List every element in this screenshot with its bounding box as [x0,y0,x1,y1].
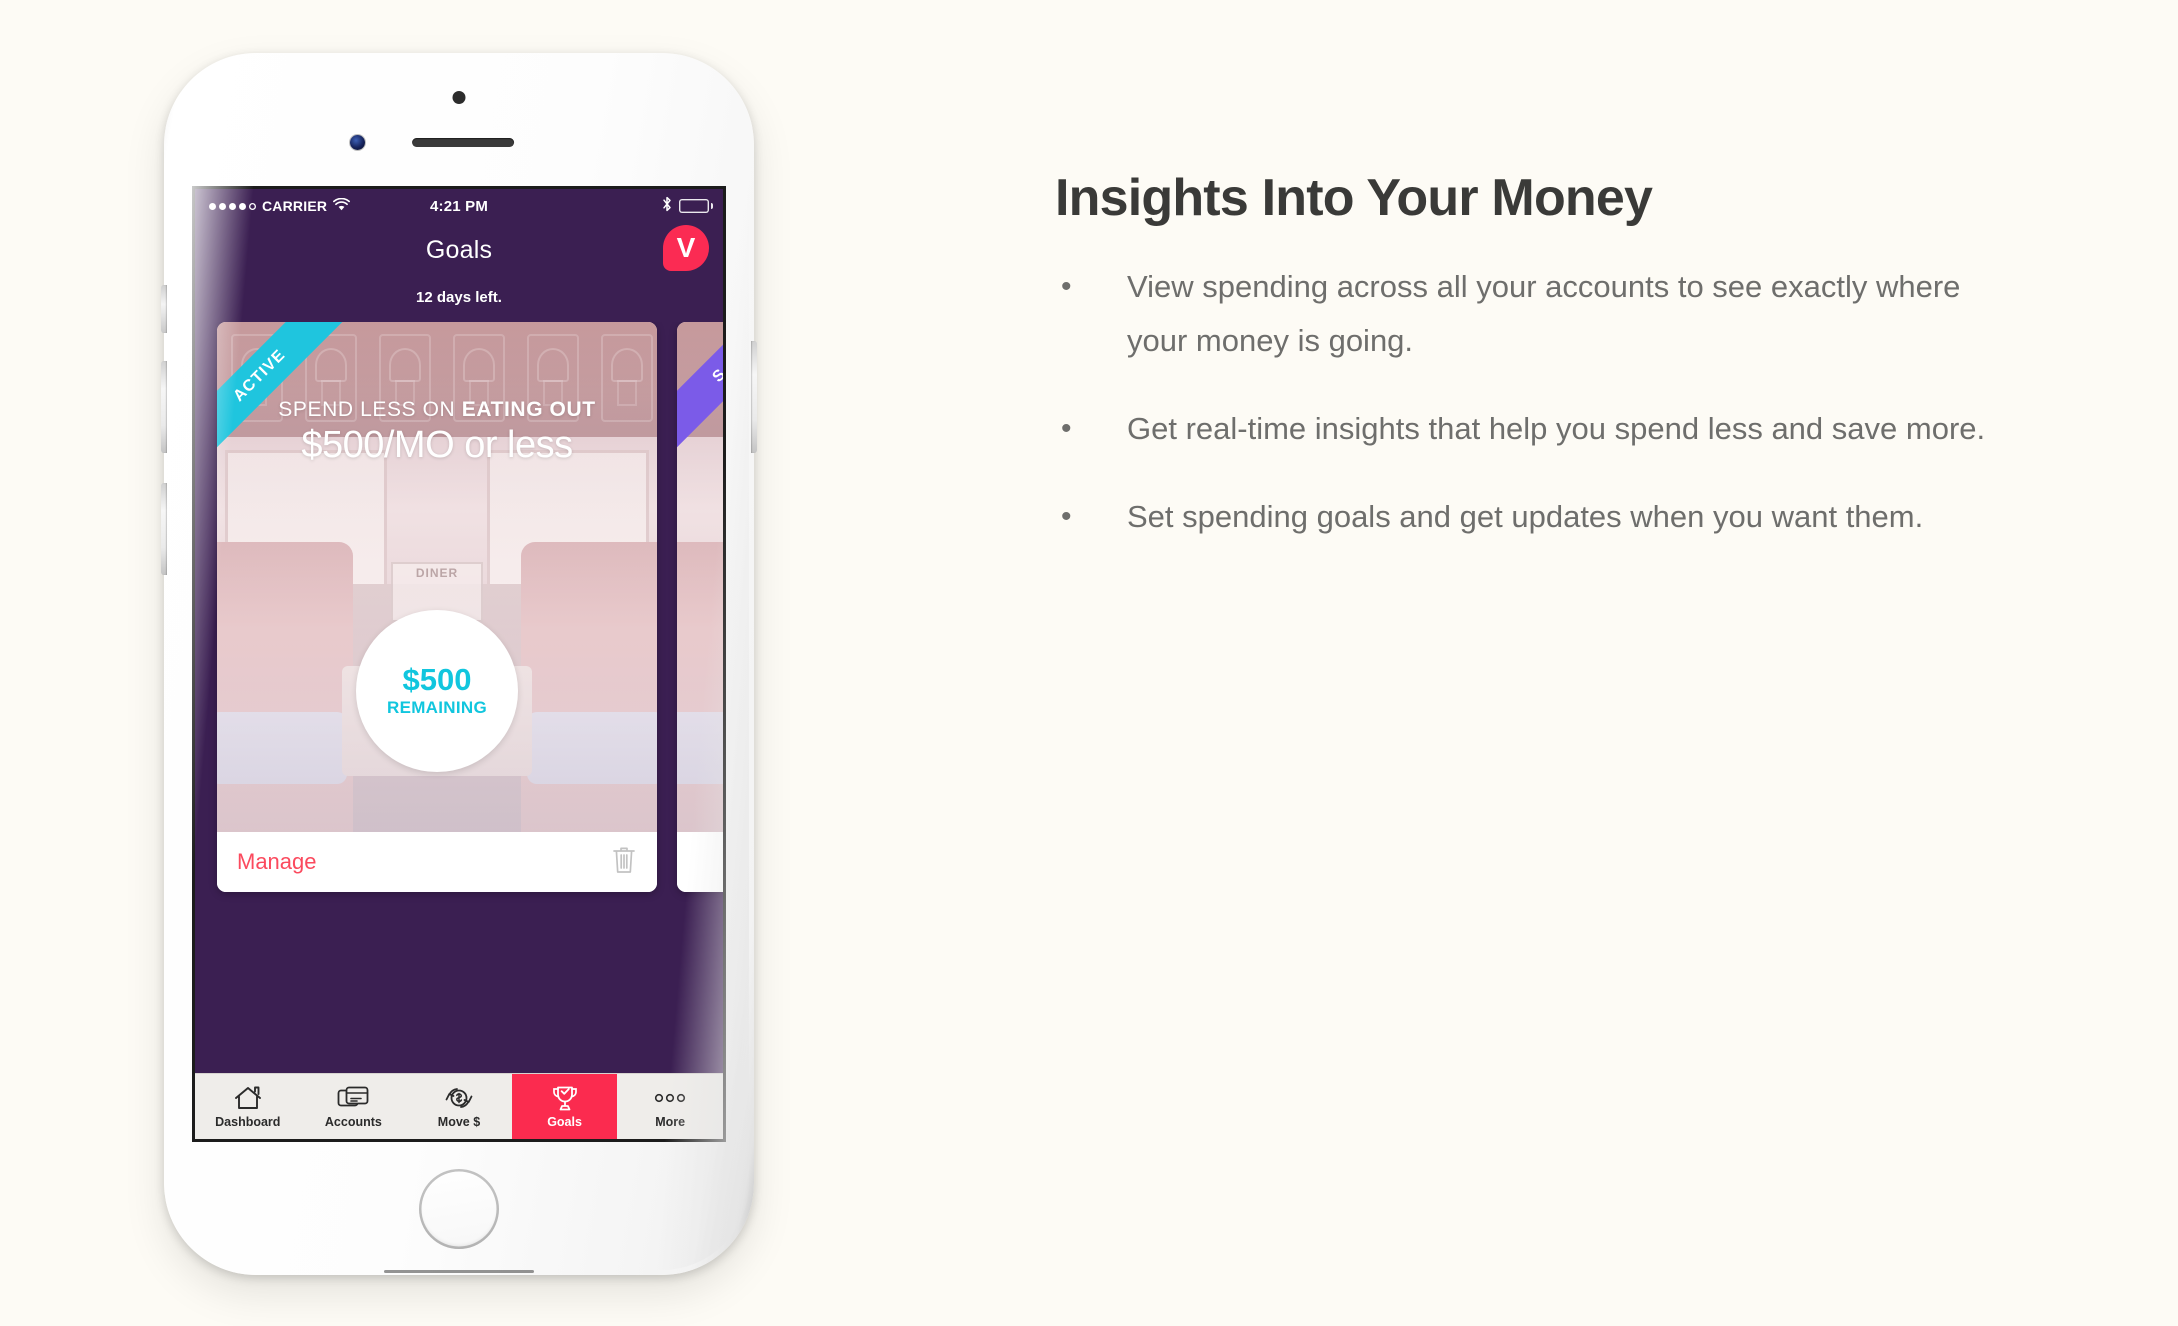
tab-accounts-label: Accounts [325,1115,382,1129]
tab-goals-label: Goals [547,1115,582,1129]
bullet-marker-icon: • [1055,260,1127,368]
ellipsis-icon [653,1084,687,1112]
goal-card-next[interactable]: S [677,322,723,892]
earpiece-speaker [412,138,514,147]
status-bar-right [488,196,709,216]
status-bar-left: CARRIER [209,198,430,215]
goal-card[interactable]: DINER ACTIVE SPEND LESS ON EATING OUT $5… [217,322,657,892]
wifi-icon [333,198,350,215]
tab-dashboard[interactable]: Dashboard [195,1074,301,1139]
bullet-text: Set spending goals and get updates when … [1127,490,1923,544]
trophy-icon [550,1084,580,1112]
transfer-icon [443,1084,475,1112]
goal-amount-line: $500/MO or less [217,424,657,467]
headline: Insights Into Your Money [1055,168,2065,228]
volume-down-button[interactable] [161,483,167,575]
tab-more[interactable]: More [617,1074,723,1139]
list-item: • View spending across all your accounts… [1055,260,2065,368]
goals-carousel[interactable]: DINER ACTIVE SPEND LESS ON EATING OUT $5… [195,322,723,922]
avatar[interactable]: V [663,225,709,271]
goal-card-next-footer [677,832,723,892]
bottom-tab-bar[interactable]: Dashboard Accounts [195,1073,723,1139]
days-left-label: 12 days left. [195,277,723,322]
tab-move-money[interactable]: Move $ [406,1074,512,1139]
cards-icon [337,1084,369,1112]
bluetooth-icon [662,196,672,216]
tab-more-label: More [655,1115,685,1129]
manage-button[interactable]: Manage [237,849,317,875]
tab-dashboard-label: Dashboard [215,1115,280,1129]
mute-switch[interactable] [161,285,167,333]
list-item: • Get real-time insights that help you s… [1055,402,2065,456]
remaining-badge: $500 REMAINING [356,610,518,772]
goal-card-next-photo: S [677,322,723,832]
bullet-text: Get real-time insights that help you spe… [1127,402,1985,456]
remaining-label: REMAINING [387,698,487,718]
page-title: Goals [426,236,492,265]
signal-strength-icon [209,203,256,210]
iphone-device-frame: CARRIER 4:21 PM [164,53,754,1275]
phone-mockup-area: CARRIER 4:21 PM [0,0,1000,1326]
goal-card-headline: SPEND LESS ON EATING OUT $500/MO or less [217,398,657,467]
goal-card-footer: Manage [217,832,657,892]
marketing-copy-panel: Insights Into Your Money • View spending… [1055,168,2065,578]
goal-headline-prefix: SPEND LESS ON [278,398,461,421]
home-icon [233,1084,263,1112]
bullet-marker-icon: • [1055,490,1127,544]
app-nav-bar: Goals V [195,223,723,277]
goal-card-photo: DINER ACTIVE SPEND LESS ON EATING OUT $5… [217,322,657,832]
volume-up-button[interactable] [161,361,167,453]
tab-accounts[interactable]: Accounts [301,1074,407,1139]
status-bar: CARRIER 4:21 PM [195,189,723,223]
proximity-sensor-icon [453,91,466,104]
battery-icon [679,199,709,213]
remaining-amount: $500 [403,664,472,695]
phone-screen: CARRIER 4:21 PM [195,189,723,1139]
bullet-text: View spending across all your accounts t… [1127,260,2027,368]
trash-icon[interactable] [611,845,637,880]
list-item: • Set spending goals and get updates whe… [1055,490,2065,544]
goal-headline-emphasis: EATING OUT [462,398,596,421]
tab-goals[interactable]: Goals [512,1074,618,1139]
front-camera-icon [350,135,365,150]
carrier-label: CARRIER [262,198,327,214]
home-button[interactable] [419,1169,499,1249]
bottom-speaker-grille [384,1270,534,1273]
status-bar-clock: 4:21 PM [430,198,488,215]
power-button[interactable] [751,341,757,453]
tab-move-money-label: Move $ [438,1115,480,1129]
bullet-marker-icon: • [1055,402,1127,456]
